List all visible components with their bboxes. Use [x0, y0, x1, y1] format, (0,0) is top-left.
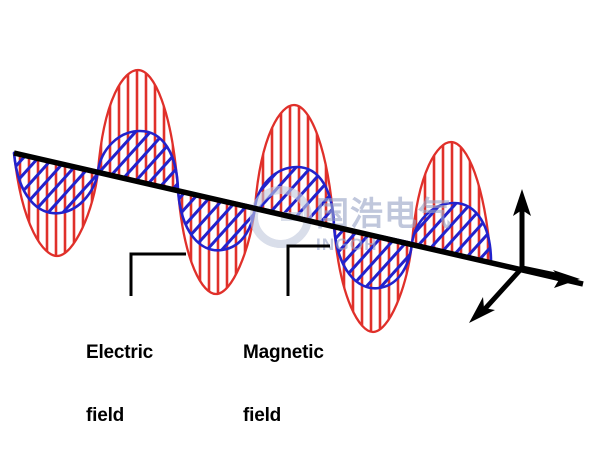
magnetic-field-label-line1: Magnetic — [243, 342, 324, 363]
electric-field-label-line2: field — [86, 405, 153, 426]
electric-field-label: Electric field — [86, 300, 153, 468]
magnetic-field-label-line2: field — [243, 405, 324, 426]
electric-field-leader — [131, 254, 186, 296]
electric-field-label-line1: Electric — [86, 342, 153, 363]
depth-axis-line — [483, 268, 522, 311]
diagram-canvas: 国浩电气 INGOH — [0, 0, 600, 450]
magnetic-field-label: Magnetic field — [243, 300, 324, 468]
